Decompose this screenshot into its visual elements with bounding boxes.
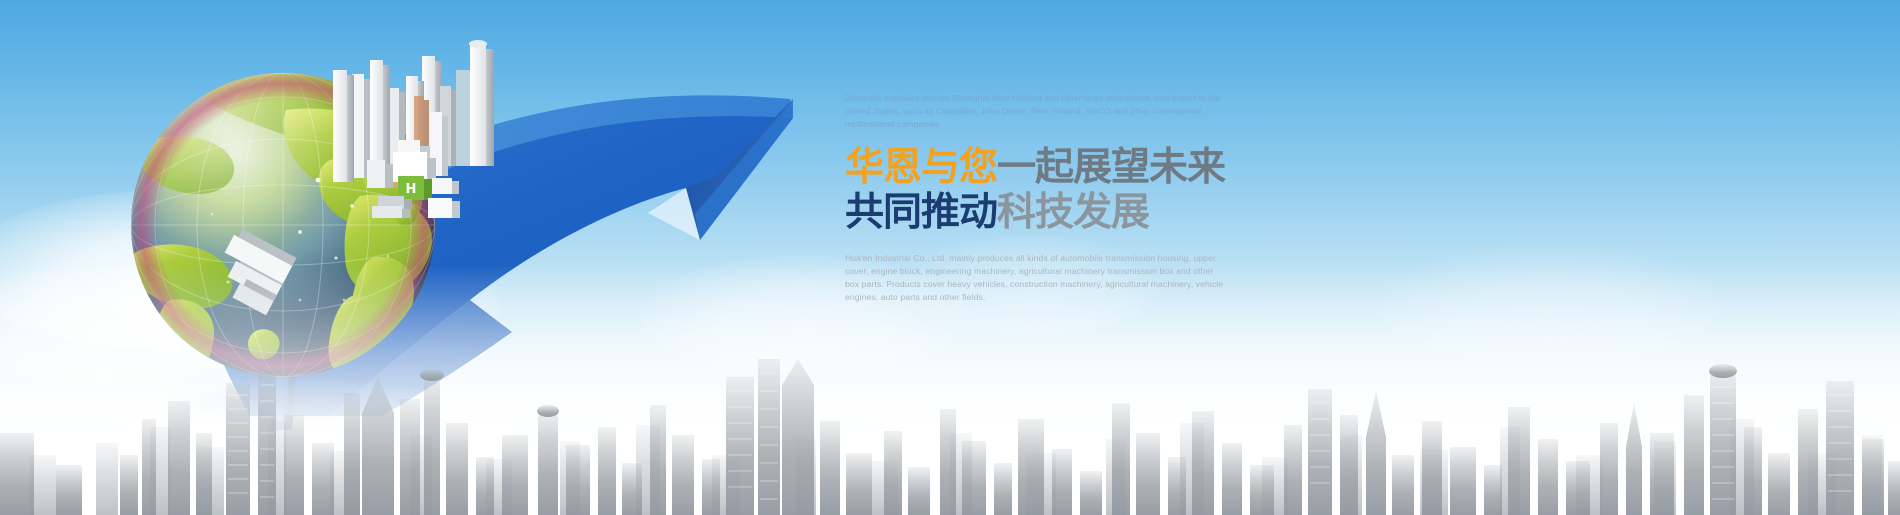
svg-text:H: H [406,182,417,197]
city-skyline-silhouette [0,315,1900,515]
page-title: 华恩与您一起展望未来 共同推动科技发展 [845,146,1225,235]
banner-copy-block: Domestic suppliers include Shanghai New … [845,92,1225,304]
headline-line-1-highlight: 华恩与您 [845,145,997,190]
headline-line-1: 华恩与您一起展望未来 [845,146,1225,190]
headline-line-2: 共同推动科技发展 [845,191,1225,235]
body-paragraph: Hua'en Industrial Co., Ltd. mainly produ… [845,252,1225,305]
headline-line-1-rest: 一起展望未来 [997,145,1225,190]
promotional-banner: H [0,0,1900,515]
headline-line-2-highlight: 共同推动 [845,190,997,235]
headline-line-2-rest: 科技发展 [997,190,1149,235]
intro-paragraph: Domestic suppliers include Shanghai New … [845,92,1225,132]
